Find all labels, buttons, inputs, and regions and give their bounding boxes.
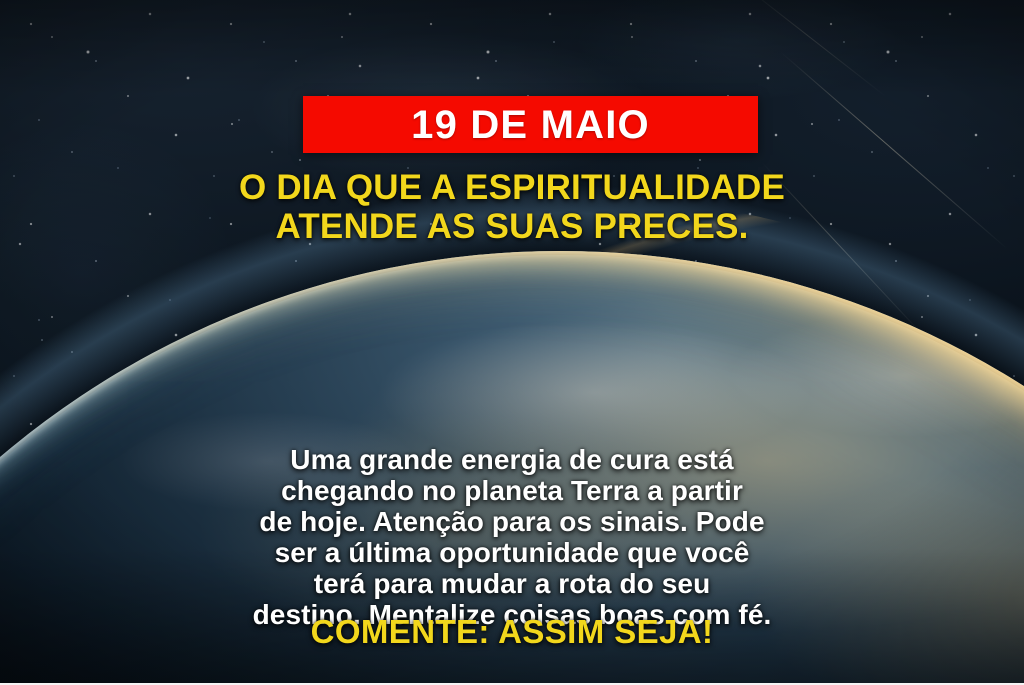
date-banner-label: 19 DE MAIO bbox=[411, 105, 650, 145]
headline-line-2: ATENDE AS SUAS PRECES. bbox=[64, 207, 960, 246]
headline: O DIA QUE A ESPIRITUALIDADE ATENDE AS SU… bbox=[0, 168, 1024, 246]
body-line: chegando no planeta Terra a partir bbox=[56, 475, 968, 506]
body-line: de hoje. Atenção para os sinais. Pode bbox=[56, 506, 968, 537]
body-text: Uma grande energia de cura está chegando… bbox=[0, 444, 1024, 630]
body-line: terá para mudar a rota do seu bbox=[56, 568, 968, 599]
poster-canvas: 19 DE MAIO O DIA QUE A ESPIRITUALIDADE A… bbox=[0, 0, 1024, 685]
body-line: ser a última oportunidade que você bbox=[56, 537, 968, 568]
date-banner: 19 DE MAIO bbox=[303, 96, 758, 153]
body-line: Uma grande energia de cura está bbox=[56, 444, 968, 475]
poster-content: 19 DE MAIO O DIA QUE A ESPIRITUALIDADE A… bbox=[0, 0, 1024, 685]
call-to-action-text: COMENTE: ASSIM SEJA! bbox=[0, 614, 1024, 650]
headline-line-1: O DIA QUE A ESPIRITUALIDADE bbox=[239, 168, 785, 207]
